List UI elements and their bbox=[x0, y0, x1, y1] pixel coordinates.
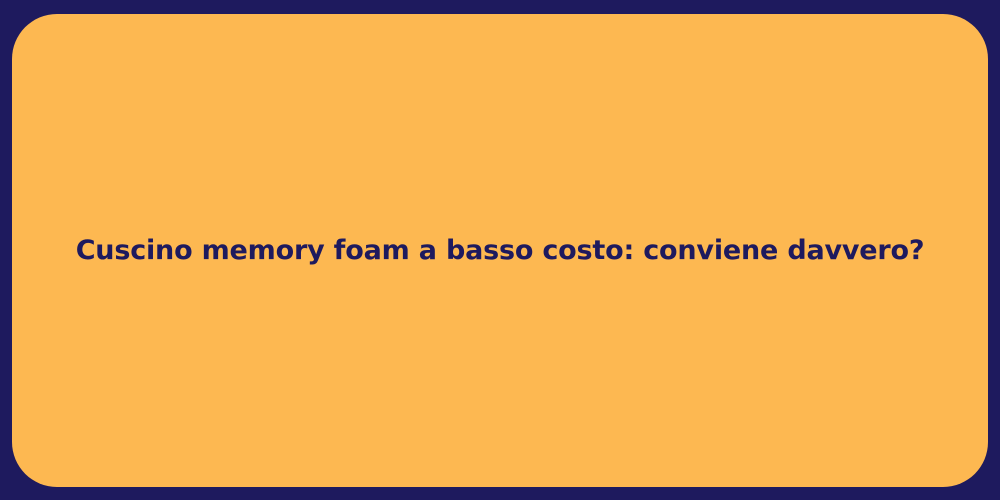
page-canvas: Cuscino memory foam a basso costo: convi… bbox=[0, 0, 1000, 500]
title-card: Cuscino memory foam a basso costo: convi… bbox=[12, 14, 988, 487]
page-title: Cuscino memory foam a basso costo: convi… bbox=[76, 234, 925, 268]
